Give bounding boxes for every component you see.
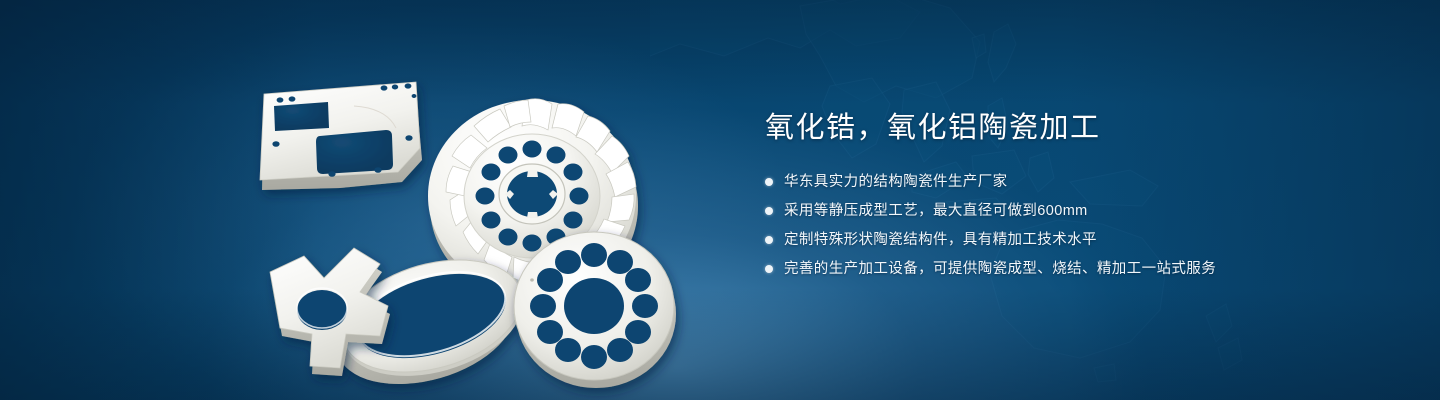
list-item: 采用等静压成型工艺，最大直径可做到600mm xyxy=(765,201,1365,221)
feature-text: 采用等静压成型工艺，最大直径可做到600mm xyxy=(784,201,1088,221)
page-title: 氧化锆，氧化铝陶瓷加工 xyxy=(765,108,1365,148)
ceramic-plate-part xyxy=(260,82,422,190)
ceramic-hole-disc-part xyxy=(514,232,676,388)
list-item: 完善的生产加工设备，可提供陶瓷成型、烧结、精加工一站式服务 xyxy=(765,259,1365,279)
feature-text: 华东具实力的结构陶瓷件生产厂家 xyxy=(784,172,1008,192)
hero-banner: 氧化锆，氧化铝陶瓷加工 华东具实力的结构陶瓷件生产厂家 采用等静压成型工艺，最大… xyxy=(0,0,1440,400)
feature-text: 定制特殊形状陶瓷结构件，具有精加工技术水平 xyxy=(784,230,1097,250)
list-item: 定制特殊形状陶瓷结构件，具有精加工技术水平 xyxy=(765,230,1365,250)
feature-list: 华东具实力的结构陶瓷件生产厂家 采用等静压成型工艺，最大直径可做到600mm 定… xyxy=(765,172,1365,279)
bullet-dot-icon xyxy=(765,236,773,244)
list-item: 华东具实力的结构陶瓷件生产厂家 xyxy=(765,172,1365,192)
bullet-dot-icon xyxy=(765,207,773,215)
feature-text: 完善的生产加工设备，可提供陶瓷成型、烧结、精加工一站式服务 xyxy=(784,259,1216,279)
bullet-dot-icon xyxy=(765,178,773,186)
banner-text-block: 氧化锆，氧化铝陶瓷加工 华东具实力的结构陶瓷件生产厂家 采用等静压成型工艺，最大… xyxy=(765,108,1365,279)
ceramic-products-photo xyxy=(236,44,712,380)
bullet-dot-icon xyxy=(765,265,773,273)
